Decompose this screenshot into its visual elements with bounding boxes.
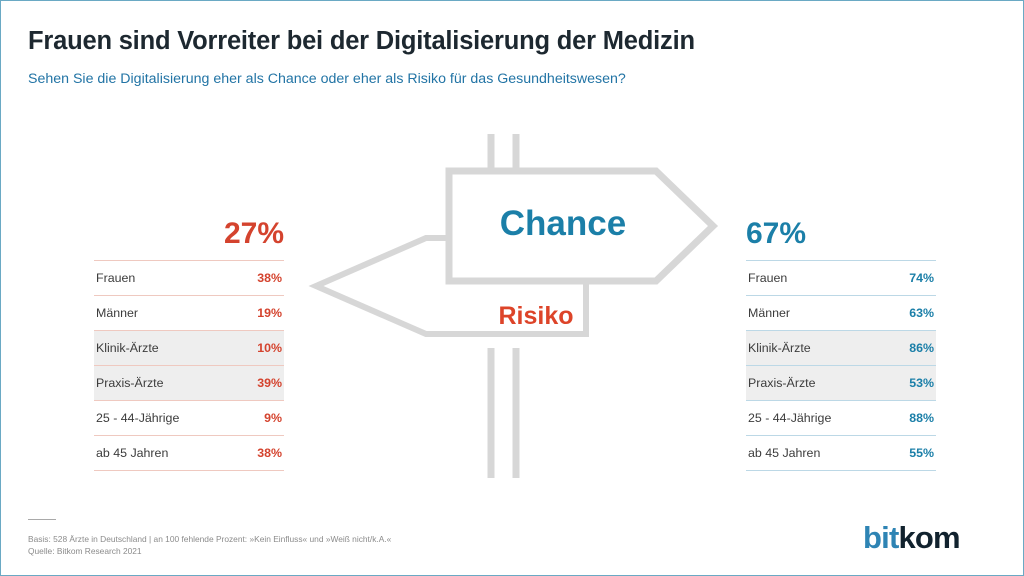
row-value: 86% (889, 331, 936, 366)
table-row: ab 45 Jahren 38% (94, 436, 284, 471)
row-label: Praxis-Ärzte (94, 366, 237, 401)
row-value: 63% (889, 296, 936, 331)
row-label: Frauen (94, 261, 237, 296)
row-label: Männer (746, 296, 889, 331)
row-value: 39% (237, 366, 284, 401)
footnote-divider (28, 519, 56, 520)
risiko-headline-percent: 27% (94, 219, 284, 260)
row-label: Männer (94, 296, 237, 331)
table-row: Frauen 38% (94, 261, 284, 296)
table-row: 25 - 44-Jährige 9% (94, 401, 284, 436)
table-row: Praxis-Ärzte 39% (94, 366, 284, 401)
table-row: Frauen 74% (746, 261, 936, 296)
row-value: 53% (889, 366, 936, 401)
risiko-panel: 27% Frauen 38% Männer 19% Klinik-Ärzte 1… (94, 219, 284, 471)
row-label: Frauen (746, 261, 889, 296)
table-row: Männer 63% (746, 296, 936, 331)
row-value: 9% (237, 401, 284, 436)
logo-part-bit: bit (863, 520, 898, 555)
table-row: 25 - 44-Jährige 88% (746, 401, 936, 436)
row-label: ab 45 Jahren (746, 436, 889, 471)
page-title: Frauen sind Vorreiter bei der Digitalisi… (28, 27, 695, 56)
risiko-table: Frauen 38% Männer 19% Klinik-Ärzte 10% P… (94, 260, 284, 471)
footnote-source: Quelle: Bitkom Research 2021 (28, 545, 391, 557)
row-value: 74% (889, 261, 936, 296)
signpost-graphic: Chance Risiko (301, 126, 731, 491)
chance-panel: 67% Frauen 74% Männer 63% Klinik-Ärzte 8… (746, 219, 936, 471)
logo-part-kom: kom (898, 520, 959, 555)
row-value: 38% (237, 261, 284, 296)
row-value: 38% (237, 436, 284, 471)
footnote-block: Basis: 528 Ärzte in Deutschland | an 100… (28, 533, 391, 557)
row-label: Praxis-Ärzte (746, 366, 889, 401)
table-row: Praxis-Ärzte 53% (746, 366, 936, 401)
post-lower-icon (491, 348, 516, 478)
table-row: Klinik-Ärzte 86% (746, 331, 936, 366)
row-label: 25 - 44-Jährige (746, 401, 889, 436)
row-label: 25 - 44-Jährige (94, 401, 237, 436)
bitkom-logo: bitkom (863, 522, 960, 553)
chance-headline-percent: 67% (746, 219, 936, 260)
row-label: ab 45 Jahren (94, 436, 237, 471)
page-subtitle: Sehen Sie die Digitalisierung eher als C… (28, 71, 626, 87)
row-value: 55% (889, 436, 936, 471)
table-row: Klinik-Ärzte 10% (94, 331, 284, 366)
row-label: Klinik-Ärzte (746, 331, 889, 366)
table-row: ab 45 Jahren 55% (746, 436, 936, 471)
risiko-sign-label: Risiko (461, 302, 611, 331)
row-value: 19% (237, 296, 284, 331)
table-row: Männer 19% (94, 296, 284, 331)
footnote-basis: Basis: 528 Ärzte in Deutschland | an 100… (28, 533, 391, 545)
row-label: Klinik-Ärzte (94, 331, 237, 366)
chance-sign-label: Chance (493, 204, 633, 244)
chance-table: Frauen 74% Männer 63% Klinik-Ärzte 86% P… (746, 260, 936, 471)
infographic-canvas: Frauen sind Vorreiter bei der Digitalisi… (0, 0, 1024, 576)
row-value: 88% (889, 401, 936, 436)
row-value: 10% (237, 331, 284, 366)
